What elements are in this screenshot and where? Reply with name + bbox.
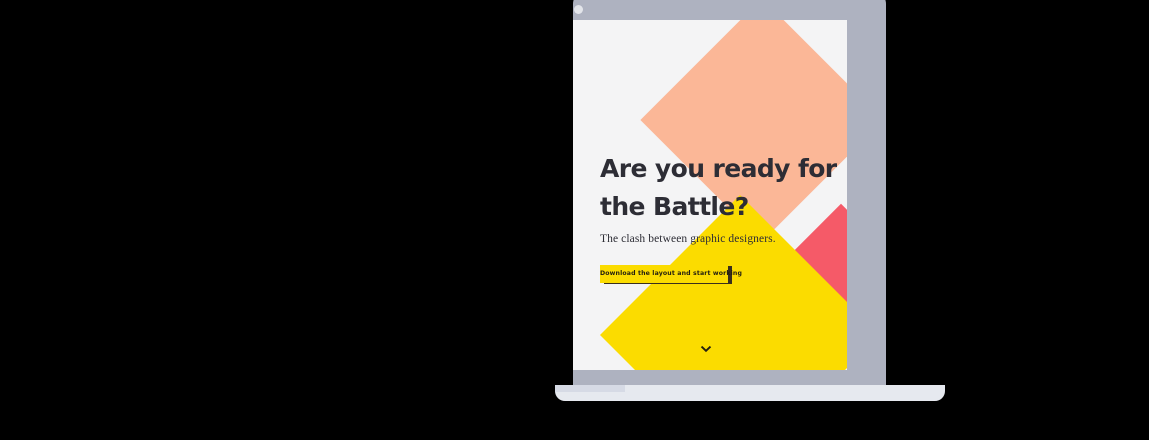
laptop-base-top	[573, 370, 886, 385]
laptop-base-notch	[555, 385, 625, 392]
camera-dot-icon	[574, 5, 583, 14]
hero-title: Are you ready for the Battle?	[600, 150, 847, 226]
laptop-screen: Are you ready for the Battle? The clash …	[573, 20, 847, 370]
download-layout-button[interactable]: Download the layout and start working	[600, 265, 728, 283]
hero-subtitle: The clash between graphic designers.	[600, 232, 847, 246]
screenshot-stage: Are you ready for the Battle? The clash …	[0, 0, 1149, 440]
chevron-down-icon[interactable]	[699, 342, 713, 356]
cta-wrapper: Download the layout and start working	[600, 262, 728, 283]
laptop-mockup: Are you ready for the Battle? The clash …	[555, 0, 955, 405]
hero-section: Are you ready for the Battle? The clash …	[600, 150, 847, 283]
